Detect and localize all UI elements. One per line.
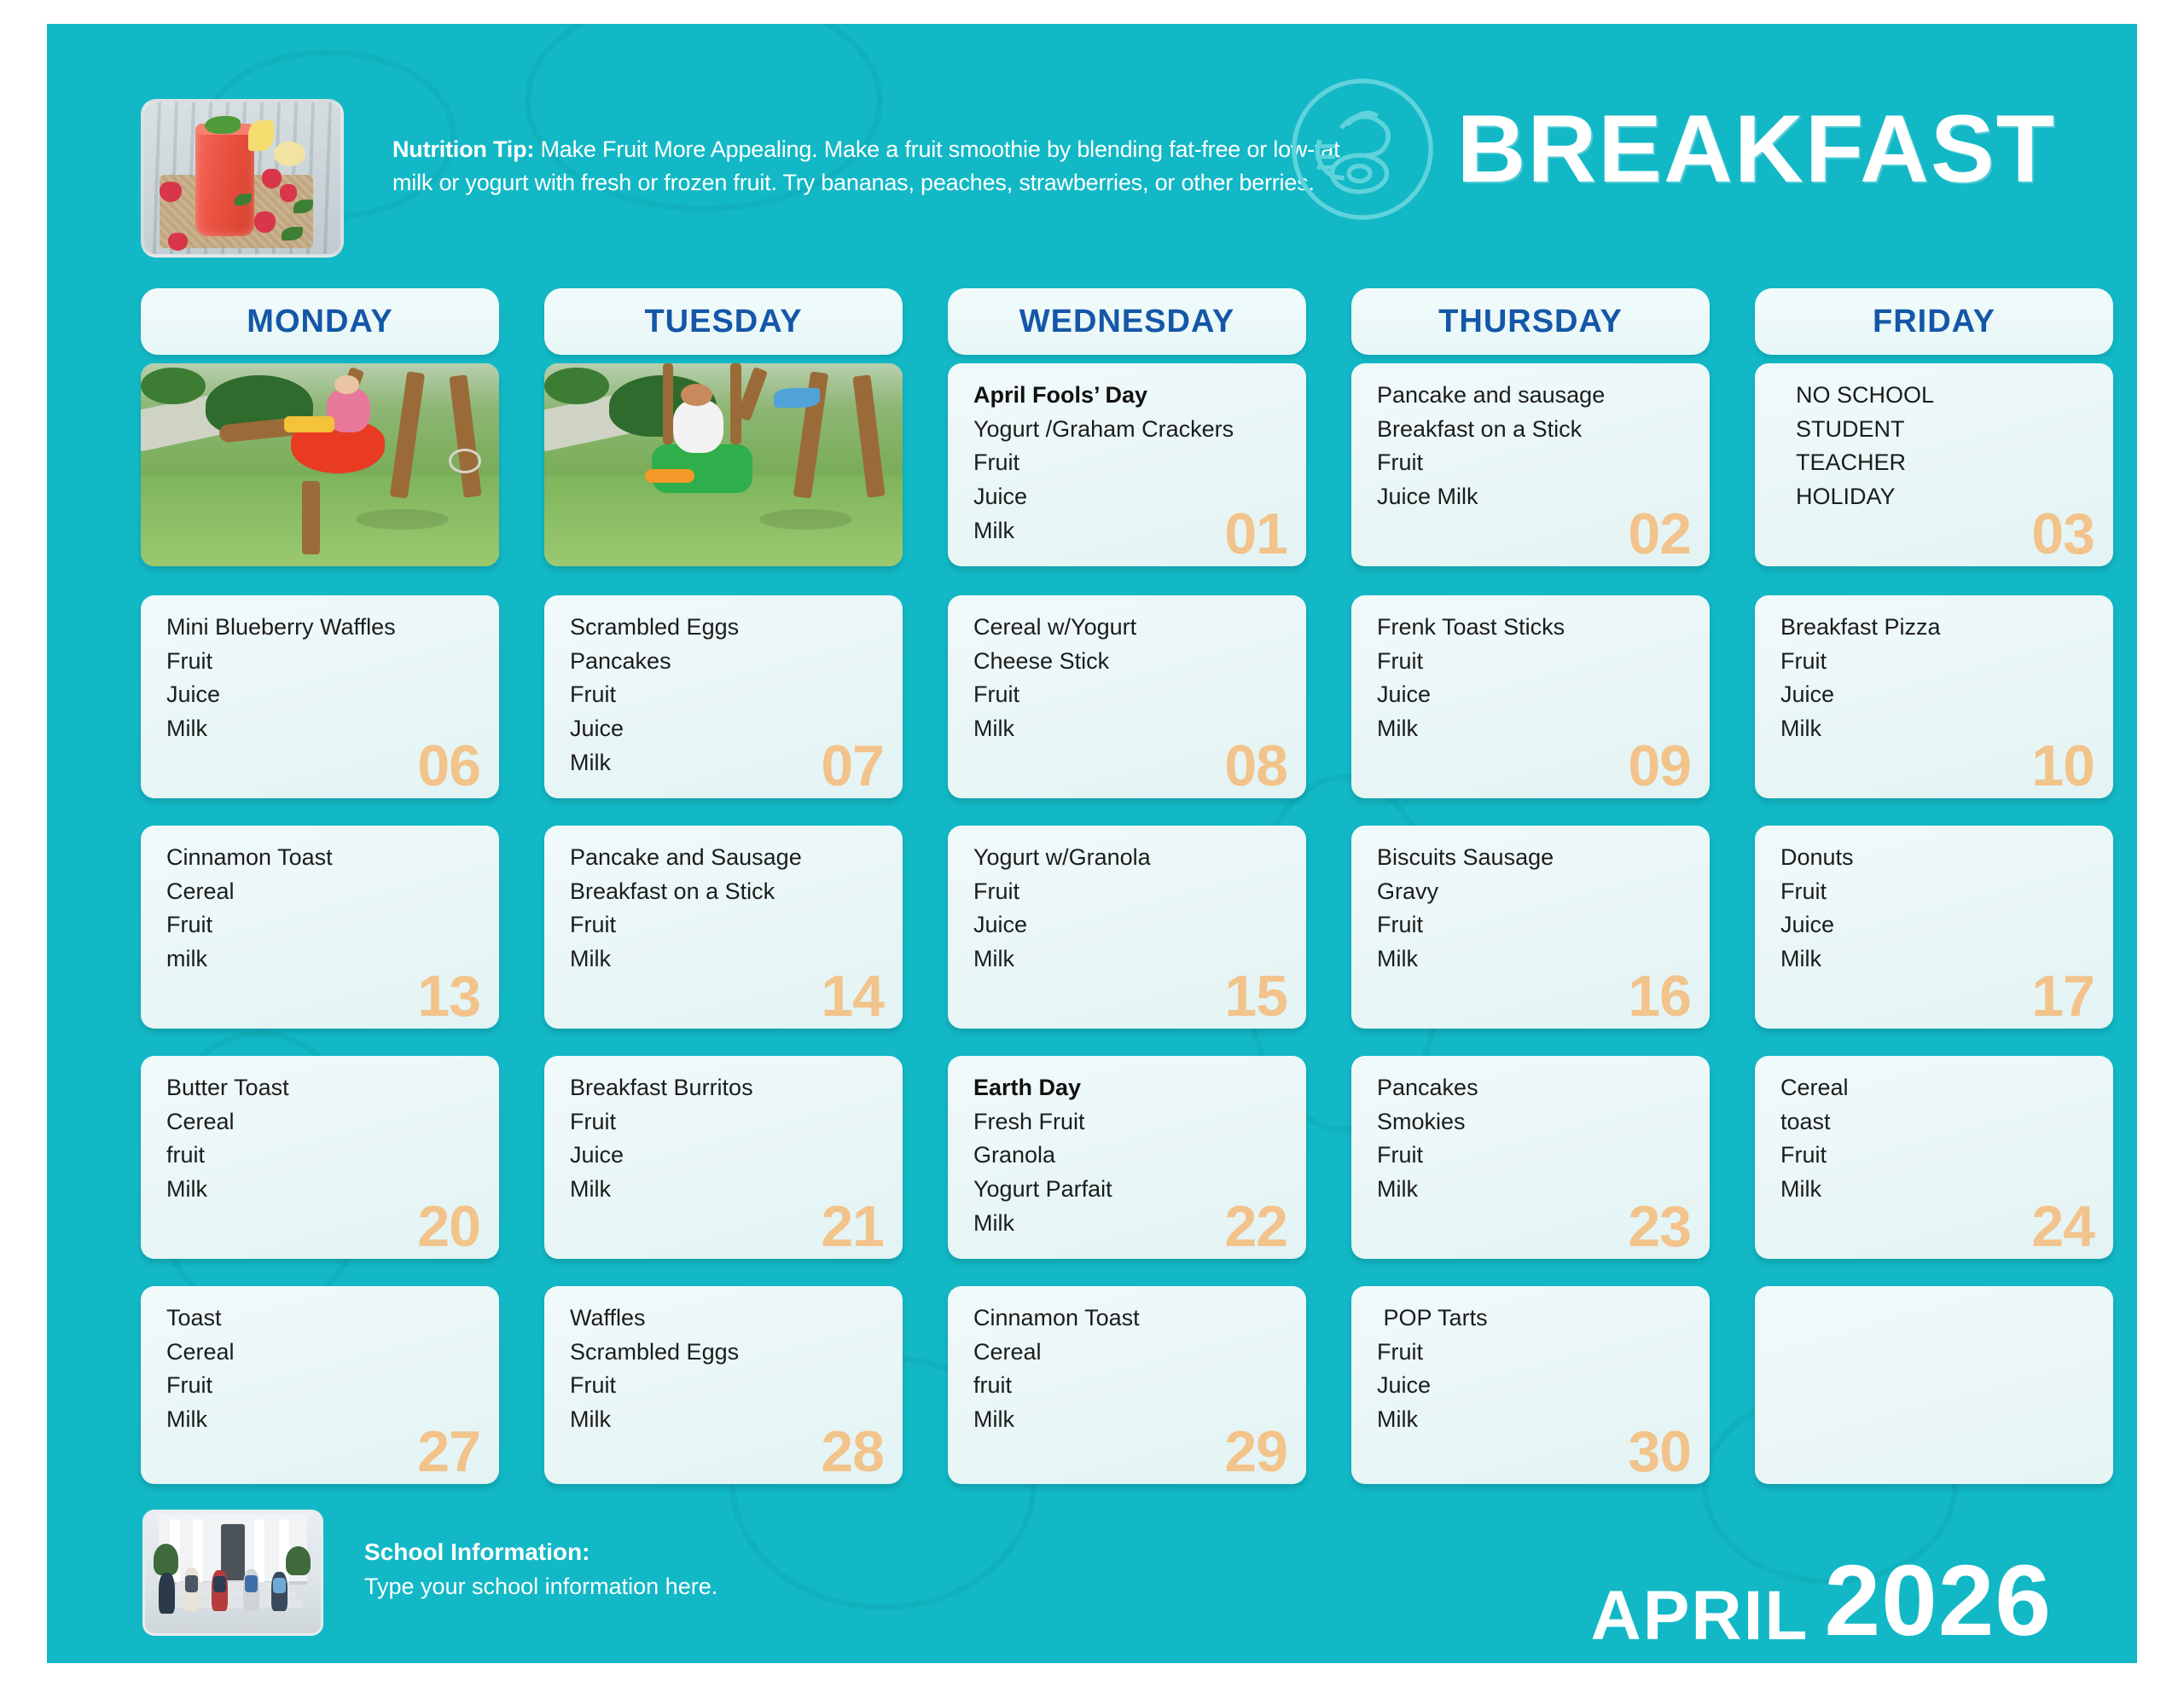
menu-item: Fruit: [1377, 1139, 1696, 1173]
menu-item: POP Tarts: [1377, 1301, 1696, 1336]
menu-list: CerealtoastFruitMilk: [1780, 1071, 2100, 1207]
day-number: 29: [1224, 1423, 1287, 1481]
calendar-day-cell[interactable]: CerealtoastFruitMilk24: [1755, 1056, 2113, 1259]
weekday-header-friday: FRIDAY: [1755, 288, 2113, 355]
day-number: 22: [1224, 1197, 1287, 1255]
weekday-header-thursday: THURSDAY: [1351, 288, 1710, 355]
menu-list: NO SCHOOLSTUDENTTEACHERHOLIDAY: [1796, 379, 2100, 514]
menu-item: Juice: [1780, 908, 2100, 942]
special-day-label: April Fools’ Day: [973, 379, 1292, 413]
menu-item: Cereal: [166, 875, 485, 909]
menu-item: toast: [1780, 1105, 2100, 1139]
playground-photo: [141, 363, 499, 566]
weekday-header-row: MONDAYTUESDAYWEDNESDAYTHURSDAYFRIDAY: [47, 288, 2137, 357]
nutrition-tip-body: Make Fruit More Appealing. Make a fruit …: [392, 136, 1339, 195]
menu-list: Biscuits SausageGravyFruitMilk: [1377, 841, 1696, 977]
menu-item: Breakfast Pizza: [1780, 611, 2100, 645]
menu-item: Scrambled Eggs: [570, 1336, 889, 1370]
day-number: 03: [2031, 505, 2094, 563]
menu-item: Fruit: [166, 645, 485, 679]
school-information: School Information: Type your school inf…: [364, 1535, 717, 1603]
menu-list: WafflesScrambled EggsFruitMilk: [570, 1301, 889, 1437]
calendar-day-cell[interactable]: PancakesSmokiesFruitMilk23: [1351, 1056, 1710, 1259]
menu-item: Butter Toast: [166, 1071, 485, 1105]
calendar-day-cell[interactable]: Pancake and sausageBreakfast on a StickF…: [1351, 363, 1710, 566]
breakfast-plate-icon: [1287, 73, 1438, 225]
menu-item: Pancake and Sausage: [570, 841, 889, 875]
menu-item: Juice: [1780, 678, 2100, 712]
calendar-day-cell[interactable]: NO SCHOOLSTUDENTTEACHERHOLIDAY03: [1755, 363, 2113, 566]
menu-item: Fruit: [1780, 1139, 2100, 1173]
weekday-header-monday: MONDAY: [141, 288, 499, 355]
menu-item: Fruit: [1377, 645, 1696, 679]
menu-item: Donuts: [1780, 841, 2100, 875]
day-number: 08: [1224, 737, 1287, 795]
day-number: 14: [821, 967, 884, 1025]
weekday-header-wednesday: WEDNESDAY: [948, 288, 1306, 355]
menu-item: Juice: [166, 678, 485, 712]
menu-list: Mini Blueberry WafflesFruitJuiceMilk: [166, 611, 485, 746]
calendar-day-cell[interactable]: [141, 363, 499, 566]
menu-item: Cereal w/Yogurt: [973, 611, 1292, 645]
menu-item: Pancakes: [1377, 1071, 1696, 1105]
menu-item: Juice: [1377, 1369, 1696, 1403]
calendar-day-cell[interactable]: [1755, 1286, 2113, 1484]
menu-item: Granola: [973, 1139, 1292, 1173]
menu-item: Fruit: [1780, 875, 2100, 909]
menu-item: NO SCHOOL: [1796, 379, 2100, 413]
month-label: APRIL: [1590, 1584, 1809, 1648]
day-number: 20: [417, 1197, 480, 1255]
menu-item: Fruit: [166, 1369, 485, 1403]
menu-item: Breakfast on a Stick: [1377, 413, 1696, 447]
breakfast-brand: BREAKFAST: [1287, 73, 2056, 225]
menu-item: Mini Blueberry Waffles: [166, 611, 485, 645]
menu-item: Fruit: [166, 908, 485, 942]
menu-item: Juice: [570, 1139, 889, 1173]
day-number: 02: [1628, 505, 1691, 563]
menu-item: Cereal: [166, 1105, 485, 1139]
menu-item: Fruit: [973, 446, 1292, 480]
menu-item: Juice: [1377, 678, 1696, 712]
menu-list: Butter ToastCerealfruitMilk: [166, 1071, 485, 1207]
calendar-day-cell[interactable]: Pancake and SausageBreakfast on a StickF…: [544, 826, 903, 1029]
calendar-day-cell[interactable]: ToastCerealFruitMilk27: [141, 1286, 499, 1484]
calendar-day-cell[interactable]: Earth DayFresh FruitGranolaYogurt Parfai…: [948, 1056, 1306, 1259]
calendar-day-cell[interactable]: Breakfast PizzaFruitJuiceMilk10: [1755, 595, 2113, 798]
day-number: 28: [821, 1423, 884, 1481]
calendar-day-cell[interactable]: Breakfast BurritosFruitJuiceMilk21: [544, 1056, 903, 1259]
month-year: APRIL 2026: [1590, 1555, 2052, 1648]
menu-item: fruit: [973, 1369, 1292, 1403]
day-number: 10: [2031, 737, 2094, 795]
calendar-day-cell[interactable]: Scrambled EggsPancakesFruitJuiceMilk07: [544, 595, 903, 798]
page-header: Nutrition Tip: Make Fruit More Appealing…: [47, 24, 2137, 280]
menu-item: fruit: [166, 1139, 485, 1173]
menu-item: Toast: [166, 1301, 485, 1336]
calendar-day-cell[interactable]: Butter ToastCerealfruitMilk20: [141, 1056, 499, 1259]
menu-item: Pancake and sausage: [1377, 379, 1696, 413]
day-number: 07: [821, 737, 884, 795]
menu-item: Smokies: [1377, 1105, 1696, 1139]
menu-list: Yogurt w/GranolaFruitJuiceMilk: [973, 841, 1292, 977]
day-number: 15: [1224, 967, 1287, 1025]
menu-item: Cheese Stick: [973, 645, 1292, 679]
day-number: 09: [1628, 737, 1691, 795]
menu-item: Frenk Toast Sticks: [1377, 611, 1696, 645]
menu-list: Breakfast PizzaFruitJuiceMilk: [1780, 611, 2100, 746]
brand-title: BREAKFAST: [1457, 101, 2056, 197]
calendar-day-cell[interactable]: Frenk Toast SticksFruitJuiceMilk09: [1351, 595, 1710, 798]
playground-photo: [544, 363, 903, 566]
day-number: 21: [821, 1197, 884, 1255]
menu-item: Juice: [973, 908, 1292, 942]
menu-list: Cinnamon ToastCerealfruitMilk: [973, 1301, 1292, 1437]
year-label: 2026: [1824, 1555, 2052, 1648]
menu-list: POP TartsFruitJuiceMilk: [1377, 1301, 1696, 1437]
weekday-label: MONDAY: [247, 304, 392, 340]
special-day-label: Earth Day: [973, 1071, 1292, 1105]
menu-item: Cereal: [166, 1336, 485, 1370]
day-number: 13: [417, 967, 480, 1025]
day-number: 01: [1224, 505, 1287, 563]
menu-item: Pancakes: [570, 645, 889, 679]
weekday-header-tuesday: TUESDAY: [544, 288, 903, 355]
menu-list: PancakesSmokiesFruitMilk: [1377, 1071, 1696, 1207]
calendar-day-cell[interactable]: [544, 363, 903, 566]
menu-item: Cinnamon Toast: [973, 1301, 1292, 1336]
menu-item: TEACHER: [1796, 446, 2100, 480]
menu-list: Breakfast BurritosFruitJuiceMilk: [570, 1071, 889, 1207]
menu-item: Yogurt w/Granola: [973, 841, 1292, 875]
calendar-day-cell[interactable]: Cinnamon ToastCerealfruitMilk29: [948, 1286, 1306, 1484]
menu-item: Biscuits Sausage: [1377, 841, 1696, 875]
menu-list: DonutsFruitJuiceMilk: [1780, 841, 2100, 977]
calendar-day-cell[interactable]: Yogurt w/GranolaFruitJuiceMilk15: [948, 826, 1306, 1029]
school-photo: [142, 1510, 323, 1636]
menu-item: Gravy: [1377, 875, 1696, 909]
page-footer: School Information: Type your school inf…: [47, 1501, 2137, 1663]
smoothie-photo: [141, 99, 344, 258]
nutrition-tip: Nutrition Tip: Make Fruit More Appealing…: [392, 133, 1356, 200]
menu-item: Yogurt /Graham Crackers: [973, 413, 1292, 447]
menu-list: ToastCerealFruitMilk: [166, 1301, 485, 1437]
calendar-day-cell[interactable]: Cinnamon ToastCerealFruitmilk13: [141, 826, 499, 1029]
menu-item: Fruit: [570, 678, 889, 712]
weekday-label: FRIDAY: [1873, 304, 1995, 340]
calendar-day-cell[interactable]: April Fools’ DayYogurt /Graham CrackersF…: [948, 363, 1306, 566]
calendar-day-cell[interactable]: WafflesScrambled EggsFruitMilk28: [544, 1286, 903, 1484]
menu-item: Fruit: [570, 908, 889, 942]
menu-item: Breakfast on a Stick: [570, 875, 889, 909]
day-number: 27: [417, 1423, 480, 1481]
calendar-page: Nutrition Tip: Make Fruit More Appealing…: [47, 24, 2137, 1663]
day-number: 17: [2031, 967, 2094, 1025]
menu-item: Breakfast Burritos: [570, 1071, 889, 1105]
menu-item: Waffles: [570, 1301, 889, 1336]
day-number: 23: [1628, 1197, 1691, 1255]
weekday-label: WEDNESDAY: [1019, 304, 1235, 340]
menu-item: Fruit: [570, 1369, 889, 1403]
menu-list: Frenk Toast SticksFruitJuiceMilk: [1377, 611, 1696, 746]
menu-item: Fresh Fruit: [973, 1105, 1292, 1139]
calendar-day-cell[interactable]: Mini Blueberry WafflesFruitJuiceMilk06: [141, 595, 499, 798]
school-information-text[interactable]: Type your school information here.: [364, 1574, 717, 1599]
menu-item: STUDENT: [1796, 413, 2100, 447]
weekday-label: TUESDAY: [644, 304, 802, 340]
menu-list: Pancake and sausageBreakfast on a StickF…: [1377, 379, 1696, 514]
day-number: 06: [417, 737, 480, 795]
menu-item: Cinnamon Toast: [166, 841, 485, 875]
nutrition-tip-label: Nutrition Tip:: [392, 136, 534, 162]
menu-item: Fruit: [1377, 446, 1696, 480]
calendar-day-cell[interactable]: DonutsFruitJuiceMilk17: [1755, 826, 2113, 1029]
menu-item: Fruit: [973, 678, 1292, 712]
menu-item: Fruit: [570, 1105, 889, 1139]
day-number: 16: [1628, 967, 1691, 1025]
calendar-day-cell[interactable]: Cereal w/YogurtCheese StickFruitMilk08: [948, 595, 1306, 798]
menu-item: Cereal: [1780, 1071, 2100, 1105]
menu-item: Cereal: [973, 1336, 1292, 1370]
menu-item: Fruit: [1377, 1336, 1696, 1370]
school-information-label: School Information:: [364, 1535, 717, 1570]
calendar-day-cell[interactable]: POP TartsFruitJuiceMilk30: [1351, 1286, 1710, 1484]
weekday-label: THURSDAY: [1438, 304, 1623, 340]
menu-list: Cinnamon ToastCerealFruitmilk: [166, 841, 485, 977]
calendar-day-cell[interactable]: Biscuits SausageGravyFruitMilk16: [1351, 826, 1710, 1029]
menu-item: Scrambled Eggs: [570, 611, 889, 645]
menu-item: Fruit: [973, 875, 1292, 909]
menu-list: Cereal w/YogurtCheese StickFruitMilk: [973, 611, 1292, 746]
menu-list: Pancake and SausageBreakfast on a StickF…: [570, 841, 889, 977]
day-number: 24: [2031, 1197, 2094, 1255]
day-number: 30: [1628, 1423, 1691, 1481]
menu-item: Fruit: [1377, 908, 1696, 942]
menu-item: Fruit: [1780, 645, 2100, 679]
